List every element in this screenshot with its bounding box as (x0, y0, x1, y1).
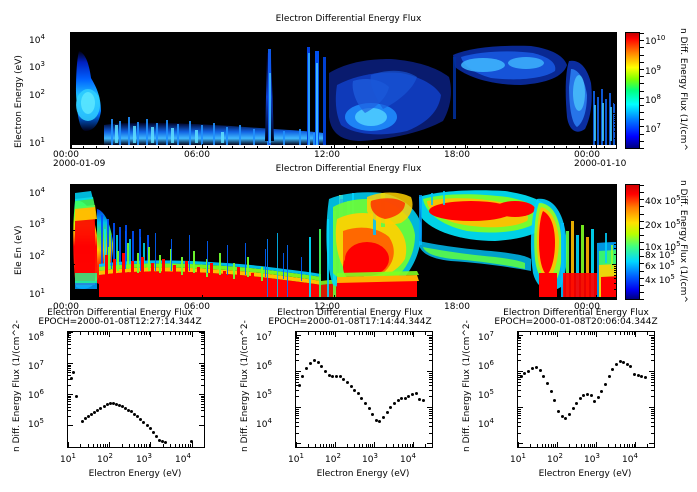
axis-tick (551, 332, 552, 335)
axis-tick (269, 33, 270, 35)
axis-tick (430, 33, 431, 35)
axis-tick (201, 333, 204, 334)
axis-tick (518, 379, 521, 380)
data-point (407, 395, 410, 398)
axis-tick (381, 146, 382, 148)
axis-tick (614, 97, 616, 98)
axis-tick (402, 444, 403, 447)
axis-tick (80, 444, 81, 447)
axis-tick (517, 33, 518, 35)
data-point (364, 402, 367, 405)
axis-tick (158, 185, 159, 187)
axis-tick (614, 235, 616, 236)
axis-tick (269, 146, 270, 148)
axis-tick (138, 444, 139, 447)
panel-mid-cbar-tick-40: 40x 105 (645, 194, 681, 207)
axis-tick (651, 338, 654, 339)
axis-tick (591, 297, 592, 299)
axis-tick (97, 332, 98, 335)
axis-tick (269, 185, 270, 187)
data-point (146, 424, 149, 427)
subplot-3-ytick-6: 106 (478, 359, 494, 372)
axis-tick (429, 411, 432, 412)
data-point (155, 435, 158, 438)
axis-tick (354, 332, 355, 335)
axis-tick (651, 426, 654, 427)
axis-tick (158, 33, 159, 35)
axis-tick (425, 444, 426, 447)
axis-tick (551, 444, 552, 447)
axis-tick (158, 146, 159, 148)
axis-tick (557, 442, 558, 447)
axis-tick (624, 444, 625, 447)
axis-tick (195, 146, 196, 148)
panel-top-xtick-2: 12:00 (314, 150, 340, 160)
axis-tick (639, 242, 644, 243)
panel-top-colorbar-label: n Diff. Energy Flux (1/(cm^ (678, 28, 688, 151)
axis-tick (635, 442, 636, 447)
axis-tick (105, 332, 106, 335)
axis-tick (517, 297, 518, 299)
axis-tick (362, 444, 363, 447)
axis-tick (71, 89, 73, 90)
axis-tick (192, 442, 193, 447)
axis-tick (163, 444, 164, 447)
axis-tick (542, 332, 543, 335)
axis-tick (190, 444, 191, 447)
axis-tick (596, 442, 597, 447)
axis-tick (71, 244, 73, 245)
axis-tick (71, 289, 73, 290)
axis-tick (647, 444, 648, 447)
axis-tick (616, 33, 617, 35)
subplot-3-xlabel: Electron Energy (eV) (517, 469, 653, 479)
data-point (371, 413, 374, 416)
axis-tick (366, 444, 367, 447)
data-point (70, 377, 73, 380)
subplot-1-plot-area (67, 331, 205, 448)
axis-tick (103, 444, 104, 447)
axis-tick (614, 283, 616, 284)
panel-mid-title: Electron Differential Energy Flux (0, 164, 697, 174)
axis-tick (518, 443, 523, 444)
axis-tick (554, 146, 555, 148)
axis-tick (614, 92, 616, 93)
axis-tick (639, 62, 644, 63)
axis-tick (107, 444, 108, 447)
axis-tick (429, 418, 432, 419)
axis-tick (548, 332, 549, 335)
axis-tick (407, 444, 408, 447)
data-point (640, 375, 643, 378)
axis-tick (71, 115, 73, 116)
axis-tick (71, 47, 73, 48)
data-point (350, 385, 353, 388)
axis-tick (204, 444, 205, 447)
axis-tick (68, 333, 71, 334)
axis-tick (335, 442, 336, 447)
panel-mid-cbar-tick-4: 4x 105 (645, 273, 675, 286)
axis-tick (201, 375, 204, 376)
subplot-2-ytick-4: 104 (256, 417, 272, 430)
axis-tick (579, 297, 580, 299)
panel-top-cbar-tick-7: 107 (645, 122, 661, 135)
axis-tick (518, 373, 521, 374)
axis-tick (542, 33, 543, 35)
axis-tick (518, 409, 521, 410)
data-point (622, 361, 625, 364)
axis-tick (109, 332, 110, 337)
axis-tick (329, 444, 330, 447)
axis-tick (68, 363, 73, 364)
axis-tick (133, 33, 134, 35)
subplot-2-xtick-4: 104 (400, 452, 416, 465)
axis-tick (492, 146, 493, 148)
axis-tick (366, 332, 367, 335)
axis-tick (614, 84, 616, 85)
axis-tick (639, 33, 644, 34)
data-point (568, 413, 571, 416)
data-point (142, 421, 145, 424)
axis-tick (620, 444, 621, 447)
axis-tick (612, 264, 616, 265)
subplot-1-ytick-5: 105 (28, 417, 44, 430)
axis-tick (639, 134, 644, 135)
axis-tick (202, 185, 203, 189)
axis-tick (590, 332, 591, 335)
axis-tick (71, 197, 73, 198)
axis-tick (220, 33, 221, 35)
axis-tick (614, 138, 616, 139)
axis-tick (639, 91, 644, 92)
axis-tick (71, 264, 75, 265)
axis-tick (296, 379, 299, 380)
axis-tick (614, 233, 616, 234)
axis-tick (639, 299, 644, 300)
axis-tick (319, 146, 320, 148)
axis-tick (430, 185, 431, 187)
subplot-2-xtick-2: 102 (325, 452, 341, 465)
axis-tick (88, 332, 89, 335)
subplot-2-subtitle: EPOCH=2000-01-08T17:14:44.344Z (240, 317, 460, 327)
axis-tick (68, 399, 71, 400)
axis-tick (201, 370, 204, 371)
axis-tick (467, 146, 468, 148)
axis-tick (386, 332, 387, 335)
axis-tick (201, 401, 204, 402)
axis-tick (529, 185, 530, 187)
axis-tick (530, 444, 531, 447)
axis-tick (374, 442, 375, 447)
axis-tick (614, 248, 616, 249)
axis-tick (425, 332, 426, 335)
axis-tick (201, 396, 204, 397)
axis-tick (639, 214, 644, 215)
axis-tick (296, 396, 299, 397)
axis-tick (612, 299, 616, 300)
axis-tick (542, 146, 543, 148)
axis-tick (359, 332, 360, 335)
data-point (572, 407, 575, 410)
axis-tick (107, 332, 108, 335)
data-point (346, 381, 349, 384)
axis-tick (207, 146, 208, 148)
axis-tick (443, 297, 444, 299)
axis-tick (566, 146, 567, 148)
axis-tick (518, 415, 521, 416)
axis-tick (368, 33, 369, 35)
axis-tick (604, 297, 605, 299)
data-point (539, 369, 542, 372)
data-point (368, 407, 371, 410)
axis-tick (639, 112, 644, 113)
axis-tick (649, 443, 654, 444)
axis-tick (296, 382, 299, 383)
axis-tick (614, 117, 616, 118)
panel-top-title: Electron Differential Energy Flux (0, 14, 697, 24)
axis-tick (651, 390, 654, 391)
axis-tick (639, 69, 644, 70)
axis-tick (296, 443, 301, 444)
axis-tick (639, 228, 644, 229)
axis-tick (529, 146, 530, 148)
axis-tick (306, 297, 307, 299)
axis-tick (518, 338, 521, 339)
axis-tick (614, 47, 616, 48)
axis-tick (614, 220, 616, 221)
axis-tick (71, 185, 72, 187)
axis-tick (604, 185, 605, 187)
axis-tick (608, 332, 609, 335)
axis-tick (323, 332, 324, 335)
axis-tick (121, 185, 122, 187)
axis-tick (596, 295, 597, 299)
axis-tick (429, 379, 432, 380)
axis-tick (71, 299, 75, 300)
axis-tick (614, 240, 616, 241)
axis-tick (296, 335, 301, 336)
axis-tick (71, 230, 75, 231)
axis-tick (320, 332, 321, 335)
axis-tick (624, 332, 625, 335)
data-point (637, 374, 640, 377)
data-point (328, 374, 331, 377)
axis-tick (306, 33, 307, 35)
axis-tick (651, 382, 654, 383)
axis-tick (201, 385, 204, 386)
axis-tick (612, 230, 616, 231)
axis-tick (244, 33, 245, 35)
axis-tick (335, 332, 336, 337)
axis-tick (566, 297, 567, 299)
axis-tick (518, 349, 521, 350)
axis-tick (465, 295, 466, 299)
axis-tick (296, 371, 301, 372)
axis-tick (455, 146, 456, 148)
axis-tick (331, 444, 332, 447)
axis-tick (244, 185, 245, 187)
axis-tick (192, 332, 193, 337)
axis-tick (429, 382, 432, 383)
axis-tick (545, 332, 546, 335)
axis-tick (614, 272, 616, 273)
axis-tick (518, 335, 523, 336)
axis-tick (627, 444, 628, 447)
axis-tick (632, 332, 633, 335)
axis-tick (639, 105, 644, 106)
axis-tick (429, 409, 432, 410)
axis-tick (103, 332, 104, 335)
axis-tick (68, 348, 71, 349)
axis-tick (201, 354, 204, 355)
axis-tick (616, 185, 617, 187)
data-point (301, 375, 304, 378)
axis-tick (88, 444, 89, 447)
axis-tick (185, 332, 186, 335)
axis-tick (93, 332, 94, 335)
axis-tick (614, 201, 616, 202)
axis-tick (83, 33, 84, 35)
data-point (619, 360, 622, 363)
axis-tick (635, 332, 636, 337)
axis-tick (398, 332, 399, 335)
axis-tick (296, 415, 299, 416)
axis-tick (149, 332, 150, 335)
axis-tick (517, 185, 518, 187)
axis-tick (443, 33, 444, 35)
axis-tick (71, 78, 75, 79)
axis-tick (190, 332, 191, 335)
axis-tick (201, 365, 204, 366)
panel-mid-ytick-2: 102 (29, 249, 45, 262)
axis-tick (612, 78, 616, 79)
panel-mid-ytick-4: 104 (29, 186, 45, 199)
axis-tick (68, 332, 73, 333)
axis-tick (418, 297, 419, 299)
axis-tick (518, 385, 521, 386)
axis-tick (639, 141, 644, 142)
axis-tick (296, 418, 299, 419)
axis-tick (651, 337, 654, 338)
axis-tick (614, 115, 616, 116)
axis-tick (405, 444, 406, 447)
axis-tick (651, 413, 654, 414)
axis-tick (443, 146, 444, 148)
axis-tick (331, 297, 332, 299)
axis-tick (100, 332, 101, 335)
axis-tick (368, 146, 369, 148)
axis-tick (579, 185, 580, 187)
axis-tick (429, 415, 432, 416)
data-point (593, 400, 596, 403)
axis-tick (651, 349, 654, 350)
axis-tick (145, 146, 146, 148)
axis-tick (83, 185, 84, 187)
axis-tick (71, 57, 73, 58)
axis-tick (566, 33, 567, 35)
axis-tick (182, 444, 183, 447)
axis-tick (429, 349, 432, 350)
axis-tick (639, 47, 644, 48)
data-point (418, 398, 421, 401)
axis-tick (68, 339, 71, 340)
subplot-2-xtick-3: 103 (362, 452, 378, 465)
axis-tick (71, 195, 75, 196)
axis-tick (71, 297, 72, 299)
data-point (331, 375, 334, 378)
axis-tick (331, 146, 332, 148)
axis-tick (170, 332, 171, 335)
axis-tick (204, 332, 205, 335)
axis-tick (68, 404, 71, 405)
axis-tick (201, 397, 204, 398)
axis-tick (596, 332, 597, 337)
axis-tick (334, 185, 335, 189)
axis-tick (413, 332, 414, 337)
axis-tick (430, 297, 431, 299)
axis-tick (518, 337, 521, 338)
axis-tick (71, 113, 75, 114)
axis-tick (579, 33, 580, 35)
axis-tick (398, 444, 399, 447)
axis-tick (455, 185, 456, 187)
axis-tick (651, 385, 654, 386)
axis-tick (429, 340, 432, 341)
axis-tick (651, 396, 654, 397)
axis-tick (608, 444, 609, 447)
axis-tick (244, 146, 245, 148)
axis-tick (257, 33, 258, 35)
data-point (84, 417, 87, 420)
axis-tick (68, 425, 73, 426)
panel-top-ylabel: Electron Energy (eV) (14, 55, 24, 148)
data-point (393, 402, 396, 405)
axis-tick (612, 148, 616, 149)
axis-tick (554, 185, 555, 187)
axis-tick (386, 444, 387, 447)
data-point (339, 375, 342, 378)
axis-tick (68, 394, 73, 395)
axis-tick (518, 390, 521, 391)
axis-tick (146, 332, 147, 335)
axis-tick (68, 407, 71, 408)
panel-mid-colorbar-label: n Diff. Energy Flux (1/(cm^ (678, 180, 688, 303)
axis-tick (368, 444, 369, 447)
axis-tick (467, 33, 468, 35)
axis-tick (319, 297, 320, 299)
axis-tick (542, 297, 543, 299)
data-point (298, 384, 301, 387)
top-spectrogram-image (71, 33, 616, 148)
data-point (523, 372, 526, 375)
axis-tick (100, 444, 101, 447)
data-point (305, 367, 308, 370)
data-point (600, 390, 603, 393)
axis-tick (150, 442, 151, 447)
data-point (190, 440, 193, 443)
axis-tick (71, 49, 73, 50)
axis-tick (492, 33, 493, 35)
axis-tick (71, 235, 73, 236)
axis-tick (71, 138, 73, 139)
axis-tick (651, 360, 654, 361)
axis-tick (71, 206, 73, 207)
axis-tick (129, 332, 130, 335)
axis-tick (592, 444, 593, 447)
axis-tick (651, 377, 654, 378)
subplot-1-xlabel: Electron Energy (eV) (67, 469, 203, 479)
axis-tick (492, 297, 493, 299)
